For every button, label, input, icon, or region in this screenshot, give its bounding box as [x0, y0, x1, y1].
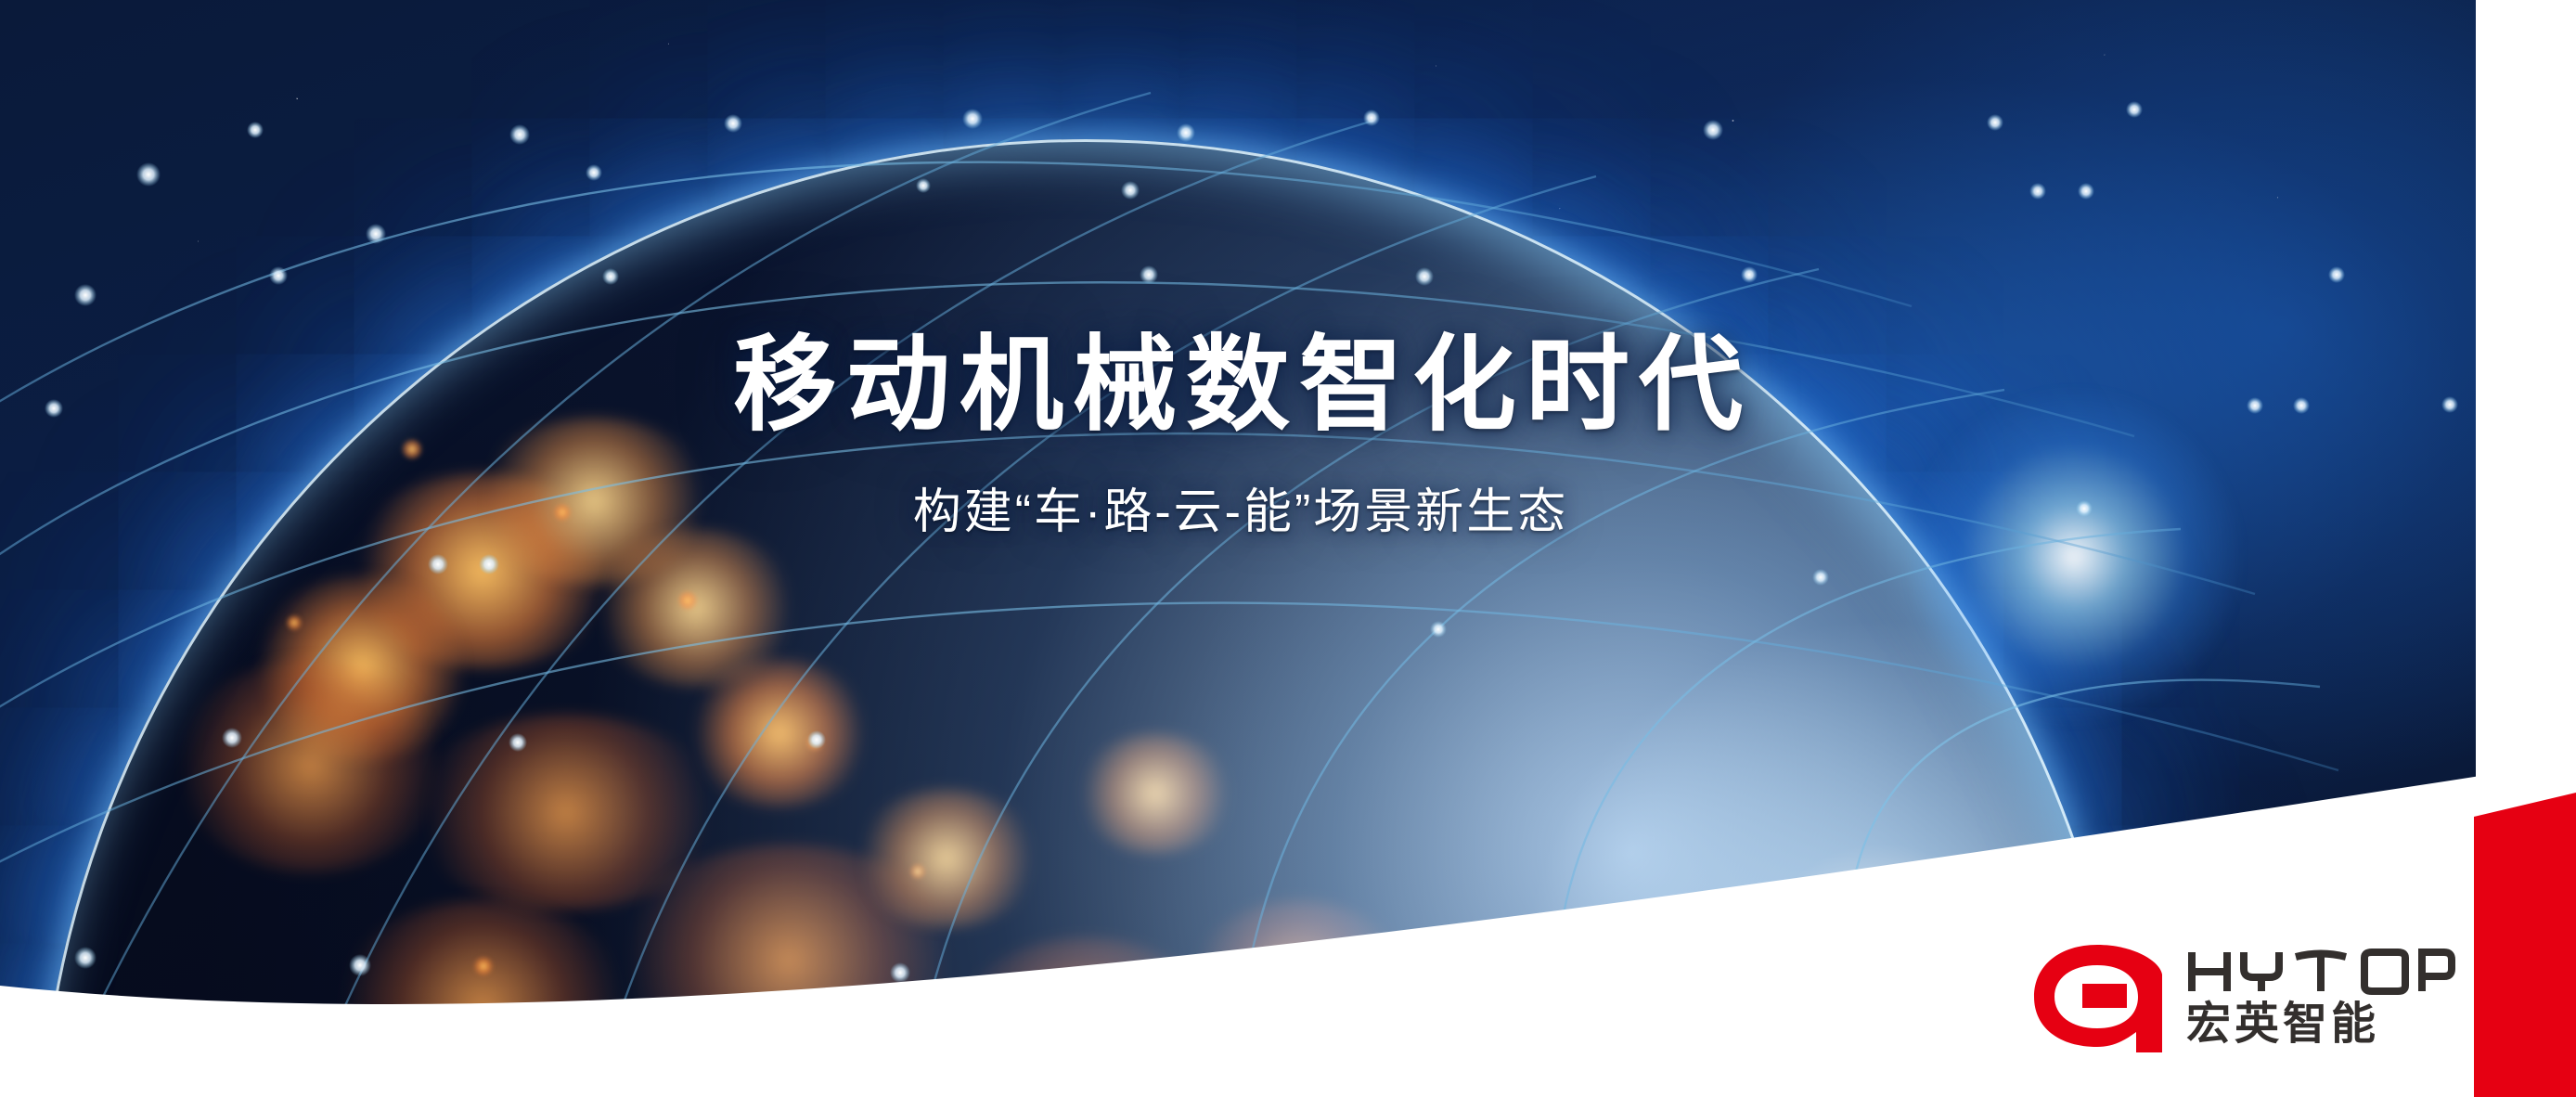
globe-container	[0, 0, 2476, 1097]
background-scene	[0, 0, 2476, 1097]
city-lights-layer	[37, 139, 2134, 1097]
title-block: 移动机械数智化时代 构建“车·路-云-能”场景新生态	[0, 327, 2476, 542]
page-subtitle: 构建“车·路-云-能”场景新生态	[0, 484, 2476, 541]
right-white-margin	[2476, 0, 2576, 1097]
brand-logo: 宏英智能	[2032, 943, 2455, 1052]
brand-name-cn: 宏英智能	[2186, 1002, 2455, 1047]
logo-typography: 宏英智能	[2186, 949, 2455, 1047]
hytop-wordmark	[2186, 949, 2455, 995]
title-slide: 移动机械数智化时代 构建“车·路-云-能”场景新生态	[0, 0, 2576, 1097]
hytop-g-mark-icon	[2032, 943, 2162, 1052]
page-title: 移动机械数智化时代	[0, 327, 2476, 443]
